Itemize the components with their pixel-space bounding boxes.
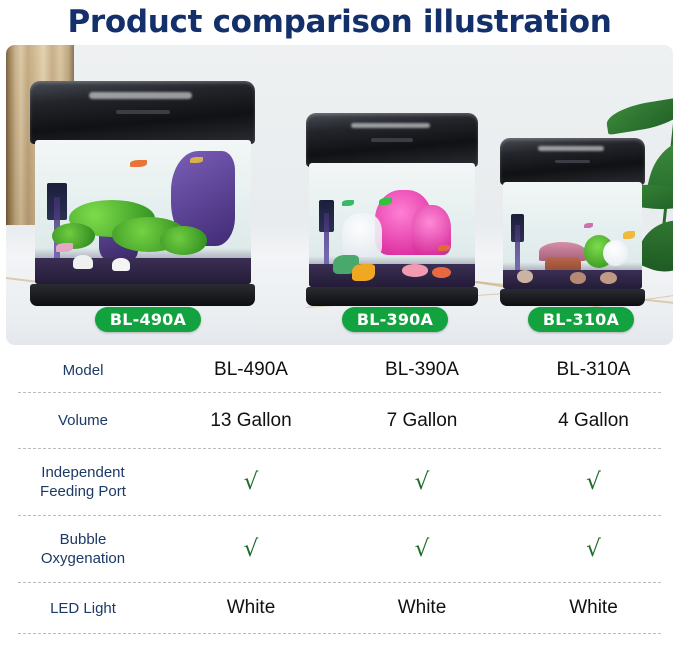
row-value: 13 Gallon: [166, 410, 336, 432]
row-label-line2: Feeding Port: [40, 482, 126, 501]
table-row: Volume 13 Gallon 7 Gallon 4 Gallon: [0, 393, 679, 448]
aquarium-hood: [306, 113, 478, 167]
row-check: √: [508, 538, 679, 561]
row-value: White: [166, 597, 336, 619]
aquarium-glass: [309, 163, 474, 287]
product-photo: BL-490A BL-390A BL-310A: [6, 45, 673, 345]
aquarium-base: [30, 284, 255, 307]
row-value: 7 Gallon: [336, 410, 508, 432]
pebble: [570, 272, 587, 284]
fish: [438, 245, 450, 251]
fish: [130, 160, 147, 167]
row-check: √: [166, 471, 336, 494]
fish: [190, 157, 203, 163]
row-check: √: [336, 471, 508, 494]
table-row: Model BL-490A BL-390A BL-310A: [0, 348, 679, 392]
row-label-line1: Independent: [41, 463, 124, 482]
row-value: BL-310A: [508, 359, 679, 381]
filter-pipe: [324, 213, 329, 270]
fish: [56, 243, 73, 252]
row-check: √: [508, 471, 679, 494]
aquarium-base: [500, 289, 645, 306]
gravel: [35, 258, 251, 284]
row-value: White: [508, 597, 679, 619]
aquarium-hood: [30, 81, 255, 144]
table-row: LED Light White White White: [0, 583, 679, 633]
row-label: LED Light: [0, 599, 166, 618]
largest-aquarium: [30, 81, 255, 306]
row-value: 4 Gallon: [508, 410, 679, 432]
table-row: Bubble Oxygenation √ √ √: [0, 516, 679, 582]
row-check: √: [166, 538, 336, 561]
aquarium-glass: [503, 182, 642, 290]
badge-bl-310a: BL-310A: [528, 307, 634, 332]
coral-decoration: [402, 264, 428, 276]
row-label-line2: Oxygenation: [41, 549, 125, 568]
aquarium-base: [306, 287, 478, 306]
row-check: √: [336, 538, 508, 561]
starfish-decoration: [352, 264, 375, 280]
badge-bl-390a: BL-390A: [342, 307, 448, 332]
small-aquarium: [500, 138, 645, 306]
aquarium-hood: [500, 138, 645, 185]
hood-vent: [555, 160, 590, 163]
medium-aquarium: [306, 113, 478, 306]
spec-table: Model BL-490A BL-390A BL-310A Volume 13 …: [0, 348, 679, 634]
pebble: [517, 270, 534, 283]
page-title: Product comparison illustration: [0, 0, 679, 44]
pebble: [600, 272, 617, 284]
row-label: Bubble Oxygenation: [0, 530, 166, 568]
row-label: Model: [0, 361, 166, 380]
filter-pipe: [515, 225, 519, 274]
hood-vent: [116, 110, 170, 114]
row-divider: [18, 633, 661, 634]
row-value: White: [336, 597, 508, 619]
hood-vent: [371, 138, 412, 142]
product-comparison-page: Product comparison illustration: [0, 0, 679, 647]
row-label-line1: Bubble: [60, 530, 107, 549]
coral-decoration: [342, 213, 382, 257]
row-value: BL-490A: [166, 359, 336, 381]
fish: [623, 231, 636, 239]
coral-decoration: [603, 240, 628, 266]
row-label: Volume: [0, 411, 166, 430]
aquarium-glass: [35, 140, 251, 284]
shell-decoration: [73, 255, 92, 269]
plant-decoration: [160, 226, 208, 255]
table-row: Independent Feeding Port √ √ √: [0, 449, 679, 515]
row-value: BL-390A: [336, 359, 508, 381]
badge-bl-490a: BL-490A: [95, 307, 201, 332]
shell-decoration: [112, 258, 129, 271]
row-label: Independent Feeding Port: [0, 463, 166, 501]
